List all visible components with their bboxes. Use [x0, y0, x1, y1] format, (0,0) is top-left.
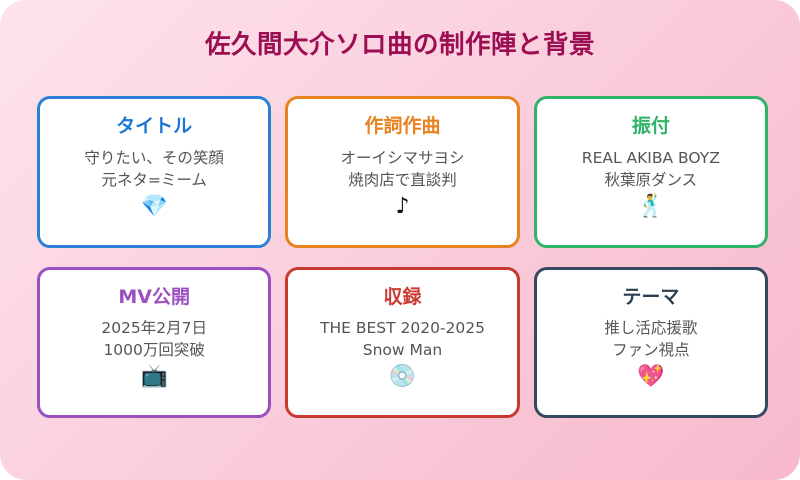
card-line: 推し活応援歌 — [604, 317, 697, 339]
card-header-theme: テーマ — [622, 287, 679, 308]
music-note-icon: ♪ — [395, 196, 409, 218]
gem-icon: 💎 — [140, 196, 167, 218]
card-line: 守りたい、その笑顔 — [84, 147, 224, 169]
card-line: THE BEST 2020-2025 — [320, 317, 485, 339]
card-choreography: 振付 REAL AKIBA BOYZ 秋葉原ダンス 🕺 — [534, 96, 768, 248]
card-line: 1000万回突破 — [101, 339, 207, 361]
infographic-poster: 佐久間大介ソロ曲の制作陣と背景 タイトル 守りたい、その笑顔 元ネタ=ミーム 💎… — [0, 0, 800, 480]
card-header-choreography: 振付 — [632, 116, 670, 137]
card-line: ファン視点 — [604, 339, 697, 361]
page-title: 佐久間大介ソロ曲の制作陣と背景 — [0, 24, 800, 61]
card-lyrics-music: 作詞作曲 オーイシマサヨシ 焼肉店で直談判 ♪ — [285, 96, 519, 248]
card-album: 収録 THE BEST 2020-2025 Snow Man 💿 — [285, 267, 519, 419]
card-line: 2025年2月7日 — [101, 317, 207, 339]
card-line: オーイシマサヨシ — [340, 147, 464, 169]
card-header-lyrics-music: 作詞作曲 — [364, 116, 440, 137]
card-header-mv-release: MV公開 — [118, 287, 190, 308]
card-body-lyrics-music: オーイシマサヨシ 焼肉店で直談判 — [340, 147, 464, 191]
card-body-choreography: REAL AKIBA BOYZ 秋葉原ダンス — [582, 147, 720, 191]
card-header-title: タイトル — [116, 116, 192, 137]
card-body-mv-release: 2025年2月7日 1000万回突破 — [101, 317, 207, 361]
card-title: タイトル 守りたい、その笑顔 元ネタ=ミーム 💎 — [37, 96, 271, 248]
card-mv-release: MV公開 2025年2月7日 1000万回突破 📺 — [37, 267, 271, 419]
card-line: REAL AKIBA BOYZ — [582, 147, 720, 169]
card-header-album: 収録 — [383, 287, 421, 308]
card-body-title: 守りたい、その笑顔 元ネタ=ミーム — [84, 147, 224, 191]
card-line: 秋葉原ダンス — [582, 169, 720, 191]
television-icon: 📺 — [140, 366, 167, 388]
compact-disc-icon: 💿 — [389, 366, 416, 388]
card-grid: タイトル 守りたい、その笑顔 元ネタ=ミーム 💎 作詞作曲 オーイシマサヨシ 焼… — [37, 96, 768, 418]
card-line: Snow Man — [320, 339, 485, 361]
card-line: 元ネタ=ミーム — [84, 169, 224, 191]
card-body-theme: 推し活応援歌 ファン視点 — [604, 317, 697, 361]
card-line: 焼肉店で直談判 — [340, 169, 464, 191]
dancer-icon: 🕺 — [637, 196, 664, 218]
card-body-album: THE BEST 2020-2025 Snow Man — [320, 317, 485, 361]
card-theme: テーマ 推し活応援歌 ファン視点 💖 — [534, 267, 768, 419]
sparkling-heart-icon: 💖 — [637, 366, 664, 388]
